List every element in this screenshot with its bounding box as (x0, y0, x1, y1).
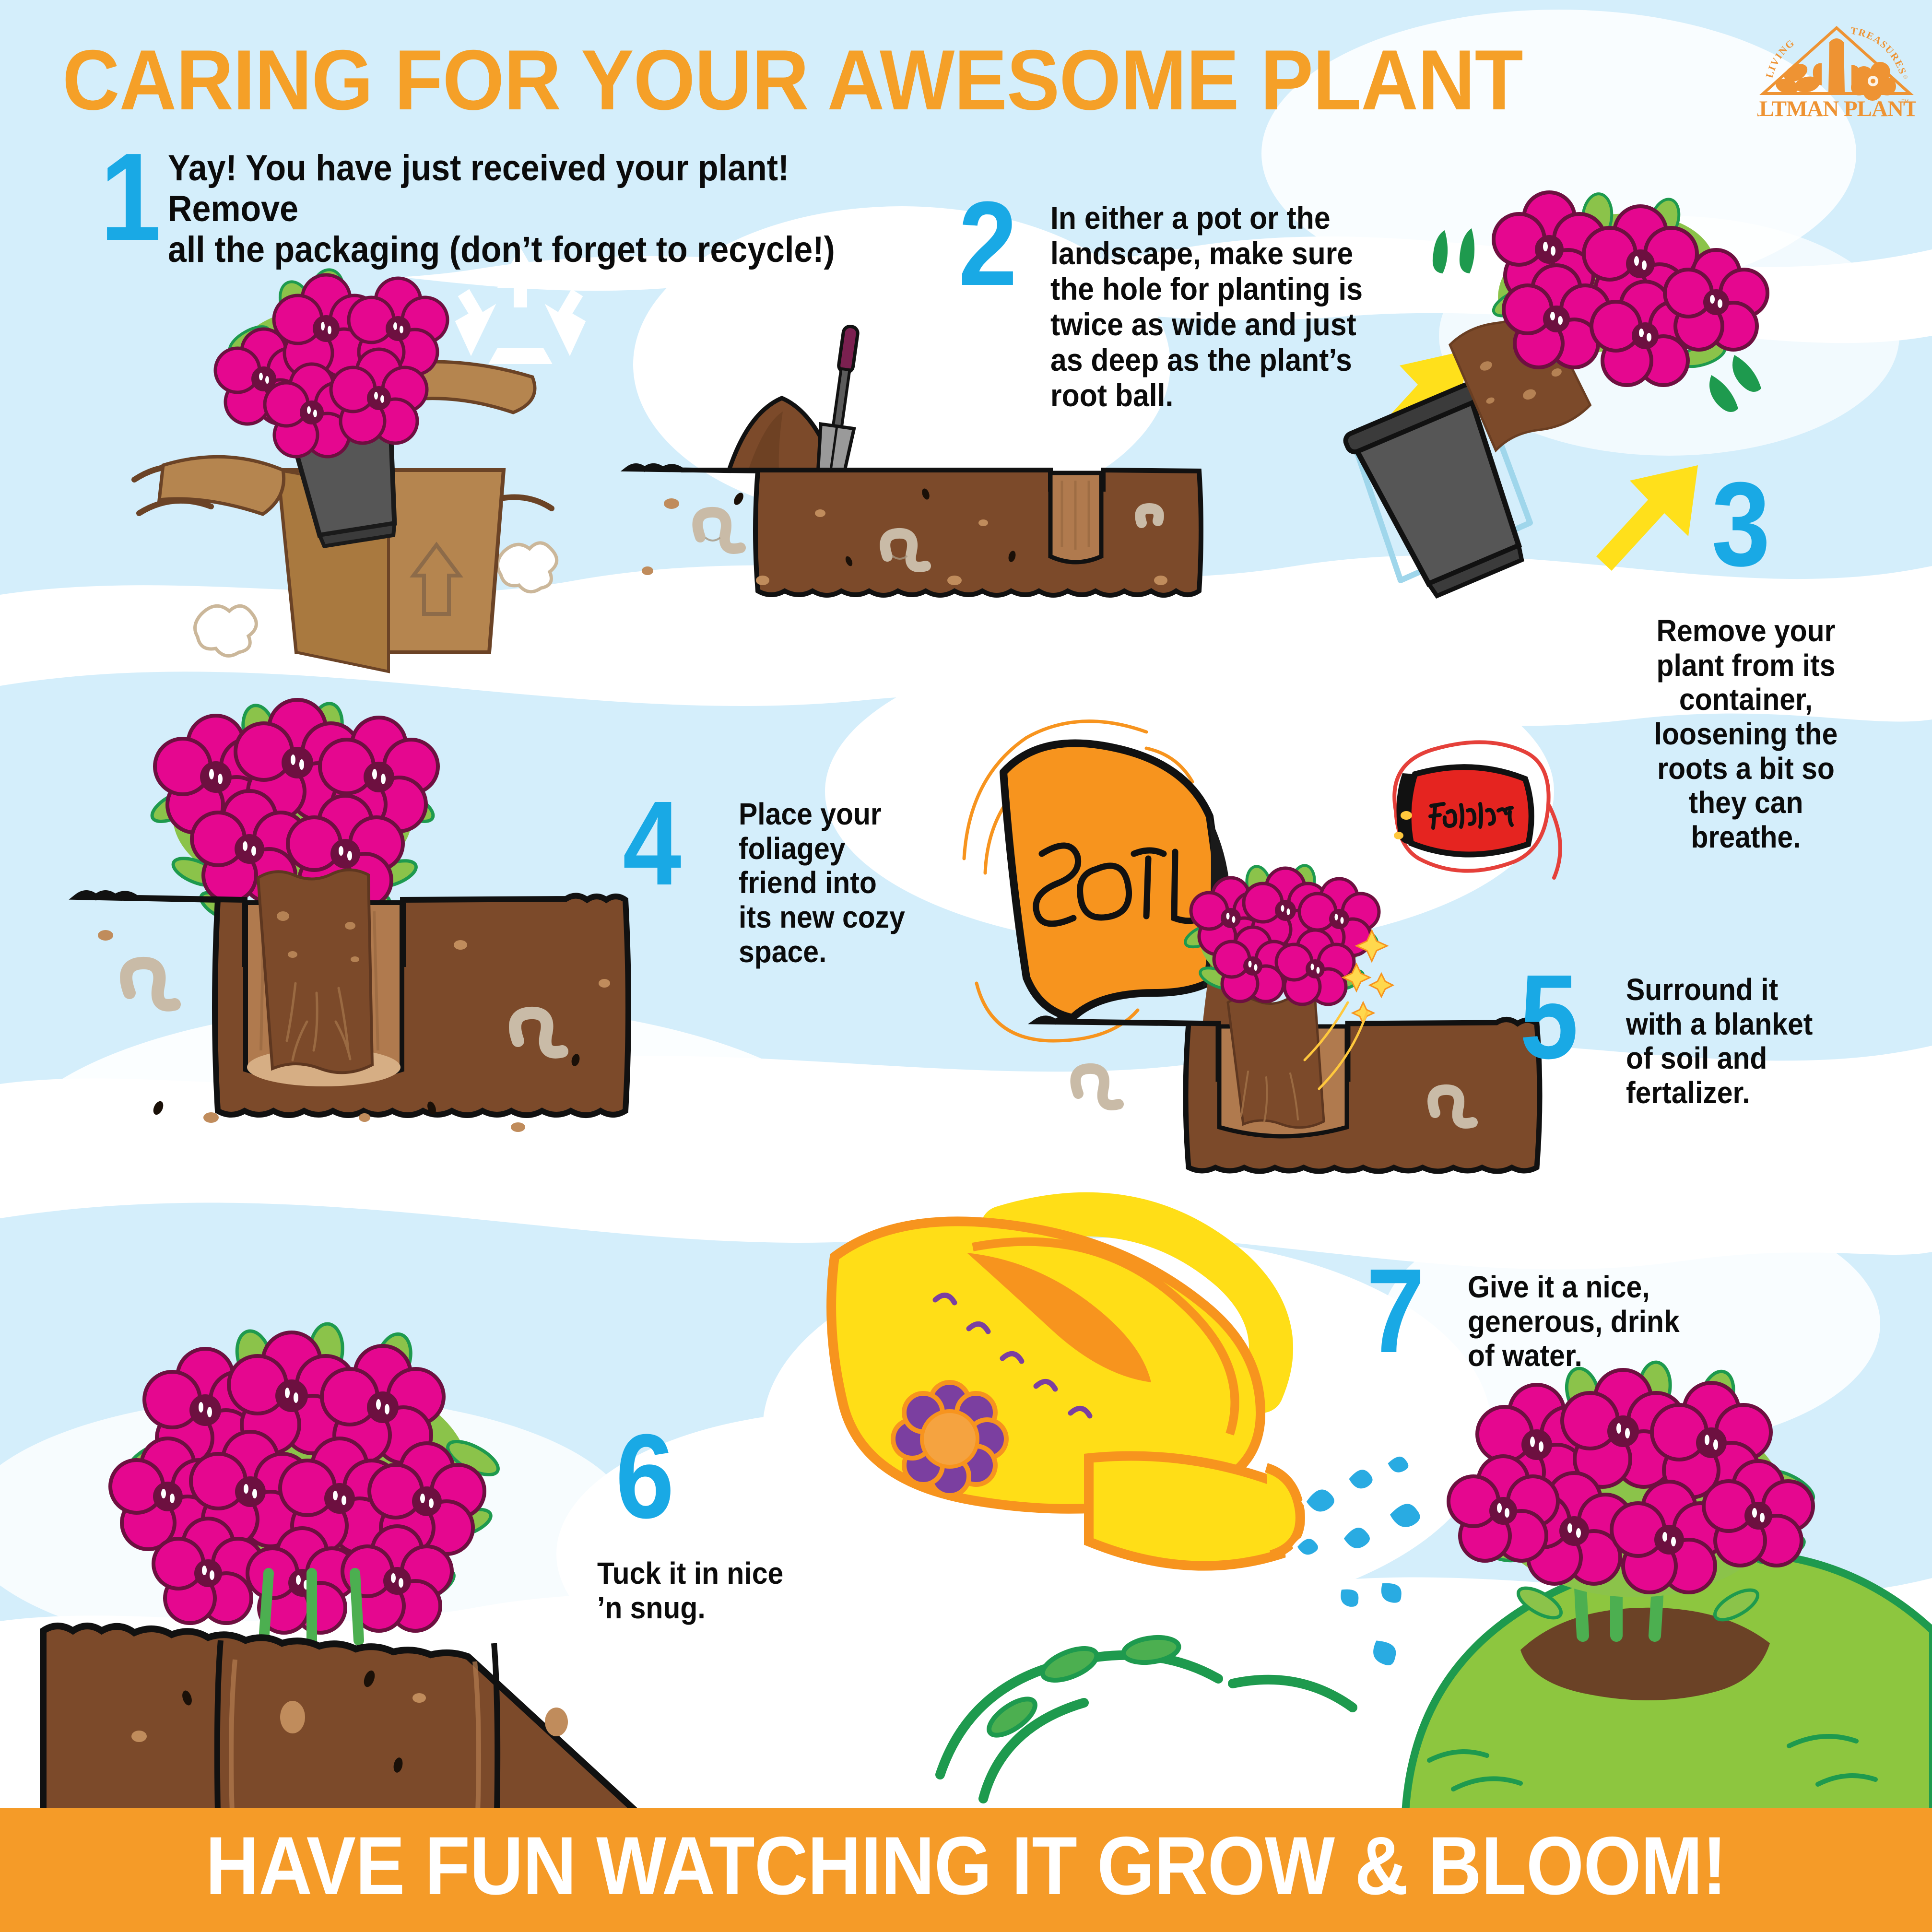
step-text-5: Surround it with a blanket of soil and f… (1626, 973, 1833, 1110)
step-text-4: Place your foliagey friend into its new … (739, 797, 924, 969)
step-number-5: 5 (1520, 965, 1578, 1068)
up-arrow-icon (1596, 465, 1698, 571)
step-6-illustration (62, 1305, 614, 1813)
step-number-3: 3 (1711, 472, 1770, 576)
step-number-7: 7 (1366, 1259, 1425, 1362)
step-text-3: Remove your plant from its container, lo… (1609, 614, 1883, 855)
registered-mark: ® (1903, 73, 1908, 80)
watering-can[interactable] (777, 1170, 1324, 1612)
step-number-6: 6 (615, 1425, 674, 1528)
trademark-mark: ™ (1901, 98, 1909, 106)
vine-decoration (926, 1592, 1405, 1803)
step-7-illustration (1367, 1381, 1932, 1813)
step-3-illustration (1324, 158, 1755, 667)
flower-decal (893, 1382, 1006, 1496)
infographic-poster: CARING FOR YOUR AWESOME PLANT (0, 0, 1932, 1932)
title-bar: CARING FOR YOUR AWESOME PLANT (0, 19, 1932, 139)
step-1-illustration (120, 221, 561, 681)
altman-plants-logo: LIVING TREASURES ® ALTMAN PLANTS ™ (1757, 19, 1916, 122)
step-number-4: 4 (623, 791, 681, 895)
step-text-1: Yay! You have just received your plant! … (168, 148, 856, 270)
footer-banner: HAVE FUN WATCHING IT GROW & BLOOM! (0, 1808, 1932, 1932)
step-4-illustration (67, 686, 643, 1233)
step-number-2: 2 (958, 192, 1017, 295)
step-text-2: In either a pot or the landscape, make s… (1050, 200, 1386, 413)
logo-wordmark: ALTMAN PLANTS (1757, 96, 1916, 121)
step-text-7: Give it a nice, generous, drink of water… (1468, 1270, 1715, 1373)
page-title: CARING FOR YOUR AWESOME PLANT (62, 37, 1523, 123)
step-text-6: Tuck it in nice ’n snug. (597, 1556, 809, 1625)
footer-banner-text: HAVE FUN WATCHING IT GROW & BLOOM! (96, 1825, 1835, 1907)
step-number-1: 1 (100, 144, 161, 251)
step-5-illustration (950, 715, 1583, 1199)
